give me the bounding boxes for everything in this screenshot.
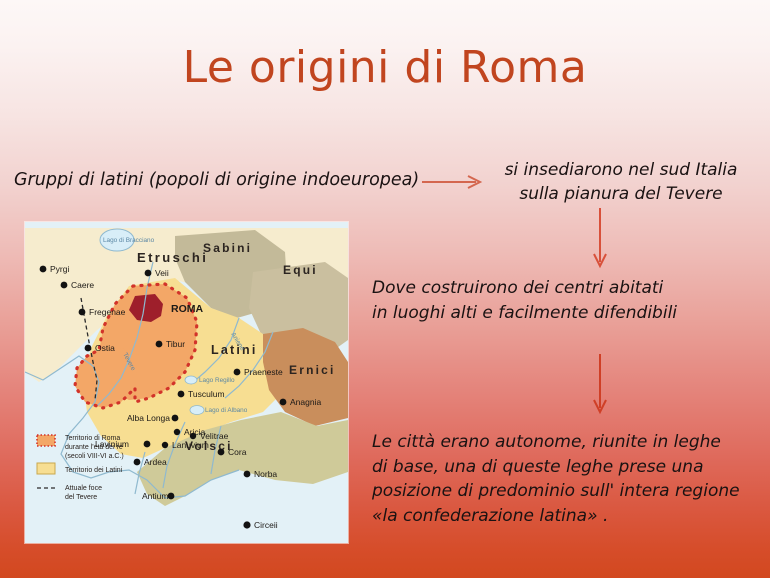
city-label-tusculum: Tusculum — [188, 389, 225, 399]
region-label-ernici: Ernici — [289, 363, 336, 377]
city-label-veii: Veii — [155, 268, 169, 278]
city-label-praeneste: Praeneste — [244, 367, 283, 377]
legend-text-tevere-2: del Tevere — [65, 494, 97, 501]
legend-swatch-latini-territory — [37, 463, 55, 474]
city-label-ostia: Ostia — [95, 343, 115, 353]
water-label-lago-regillo: Lago Regillo — [199, 377, 235, 384]
flow-step3-text: Le città erano autonome, riunite in legh… — [372, 430, 766, 528]
flow-step1-text: si insediarono nel sud Italia sulla pian… — [478, 158, 764, 206]
region-label-etruschi: Etruschi — [137, 250, 208, 265]
legend-text-roma-3: (secoli VIII-VI a.C.) — [65, 453, 124, 460]
city-label-cora: Cora — [228, 447, 247, 457]
arrow-down-icon-1 — [588, 206, 612, 277]
map-svg: Etruschi Sabini Equi Latini Ernici Volsc… — [25, 222, 348, 543]
legend-text-latini: Territorio dei Latini — [65, 467, 123, 474]
lake-regillo — [185, 376, 197, 384]
water-label-lago-albano: Lago di Albano — [205, 407, 248, 414]
arrow-right-icon — [420, 170, 486, 199]
city-label-caere: Caere — [71, 280, 94, 290]
city-label-norba: Norba — [254, 469, 277, 479]
city-label-tibur: Tibur — [166, 339, 185, 349]
city-label-roma: ROMA — [171, 303, 203, 315]
city-label-pyrgi: Pyrgi — [50, 264, 69, 274]
map-lazio-antico: Etruschi Sabini Equi Latini Ernici Volsc… — [25, 222, 348, 543]
city-label-lanuvium: Lanuvium — [172, 440, 209, 450]
city-label-circeii: Circeii — [254, 520, 278, 530]
region-label-sabini: Sabini — [203, 241, 252, 255]
city-label-fregenae: Fregenae — [89, 307, 126, 317]
arrow-down-icon-2 — [588, 352, 612, 423]
legend-swatch-roma-territory — [37, 435, 55, 446]
city-label-alba-longa: Alba Longa — [127, 413, 170, 423]
page-title: Le origini di Roma — [0, 42, 770, 94]
slide-canvas: Le origini di Roma Gruppi di latini (pop… — [0, 0, 770, 578]
legend-text-roma-1: Territorio di Roma — [65, 435, 120, 442]
legend-text-tevere-1: Attuale foce — [65, 485, 102, 492]
map-legend: Territorio di Roma durante l'età dei re … — [35, 427, 163, 515]
legend-text-roma-2: durante l'età dei re — [65, 444, 123, 451]
region-label-equi: Equi — [283, 263, 318, 277]
city-label-anagnia: Anagnia — [290, 397, 321, 407]
city-label-velitrae: Velitrae — [200, 431, 229, 441]
flow-origin-text: Gruppi di latini (popoli di origine indo… — [14, 168, 419, 192]
lake-albano — [190, 406, 204, 415]
water-label-lago-bracciano: Lago di Bracciano — [103, 237, 155, 244]
region-label-latini: Latini — [211, 343, 258, 357]
flow-step2-text: Dove costruirono dei centri abitati in l… — [372, 276, 764, 326]
